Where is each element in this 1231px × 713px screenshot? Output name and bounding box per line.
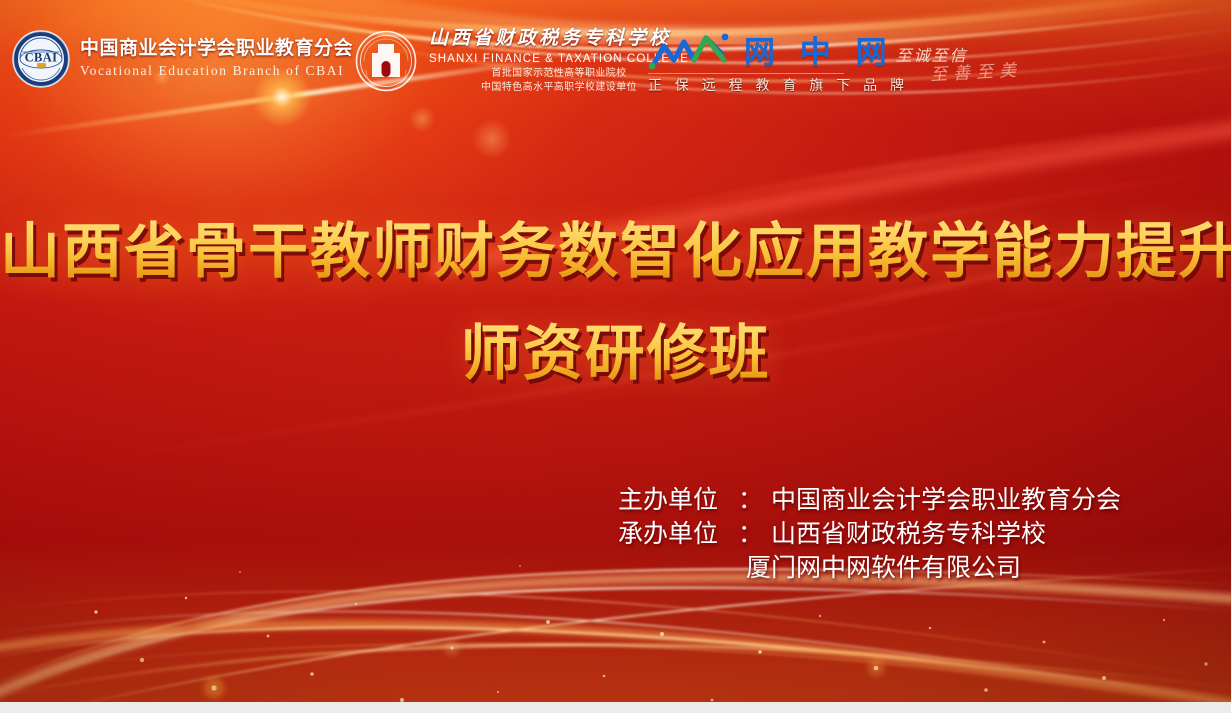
slide-title-line-1: 山西省骨干教师财务数智化应用教学能力提升 <box>0 214 1231 290</box>
header-logo-bar: CBAI 中国商业会计学会职业教育分会 Vocational Education… <box>0 0 1231 118</box>
organizer-organizer-label: 承办单位 <box>618 517 738 551</box>
logo-wangzhongwang: 网 中 网 至诚至信 正 保 远 程 教 育 旗 下 品 牌 <box>648 30 968 94</box>
organizer-organizer-colon: ： <box>738 517 763 551</box>
organizer-block: 主办单位 ： 中国商业会计学会职业教育分会 承办单位 ： 山西省财政税务专科学校… <box>618 483 1121 585</box>
organizer-row-host: 主办单位 ： 中国商业会计学会职业教育分会 <box>618 483 1121 517</box>
shanxi-college-seal-icon <box>355 30 417 92</box>
cbai-cn-name: 中国商业会计学会职业教育分会 <box>80 38 353 60</box>
slide-title-line-2: 师资研修班 <box>0 316 1231 392</box>
cbai-en-name: Vocational Education Branch of CBAI <box>80 61 353 80</box>
logo-cbai: CBAI 中国商业会计学会职业教育分会 Vocational Education… <box>12 30 353 88</box>
organizer-host-colon: ： <box>738 483 763 517</box>
presentation-slide: CBAI 中国商业会计学会职业教育分会 Vocational Education… <box>0 0 1231 713</box>
bottom-strip <box>0 702 1231 713</box>
organizer-organizer-value: 山西省财政税务专科学校 <box>771 517 1121 551</box>
wangzhongwang-mark-icon <box>648 30 736 70</box>
svg-text:CBAI: CBAI <box>25 51 58 65</box>
wangzhongwang-calligraphy: 至善至美 <box>929 56 1022 86</box>
cbai-seal-icon: CBAI <box>12 30 70 88</box>
logo-shanxi-finance-taxation-college: 山西省财政税务专科学校 SHANXI FINANCE & TAXATION CO… <box>355 28 689 94</box>
wangzhongwang-brand-name: 网 中 网 <box>744 37 894 70</box>
slide-title: 山西省骨干教师财务数智化应用教学能力提升 师资研修班 <box>0 214 1231 392</box>
wangzhongwang-divider <box>648 73 844 74</box>
organizer-organizer-extra-value: 厦门网中网软件有限公司 <box>746 553 1021 582</box>
organizer-host-value: 中国商业会计学会职业教育分会 <box>771 483 1121 517</box>
organizer-row-organizer: 承办单位 ： 山西省财政税务专科学校 <box>618 517 1121 551</box>
wangzhongwang-sub-name: 正 保 远 程 教 育 旗 下 品 牌 <box>648 76 968 94</box>
organizer-row-organizer-extra: 厦门网中网软件有限公司 <box>618 551 1121 585</box>
organizer-host-label: 主办单位 <box>618 483 738 517</box>
